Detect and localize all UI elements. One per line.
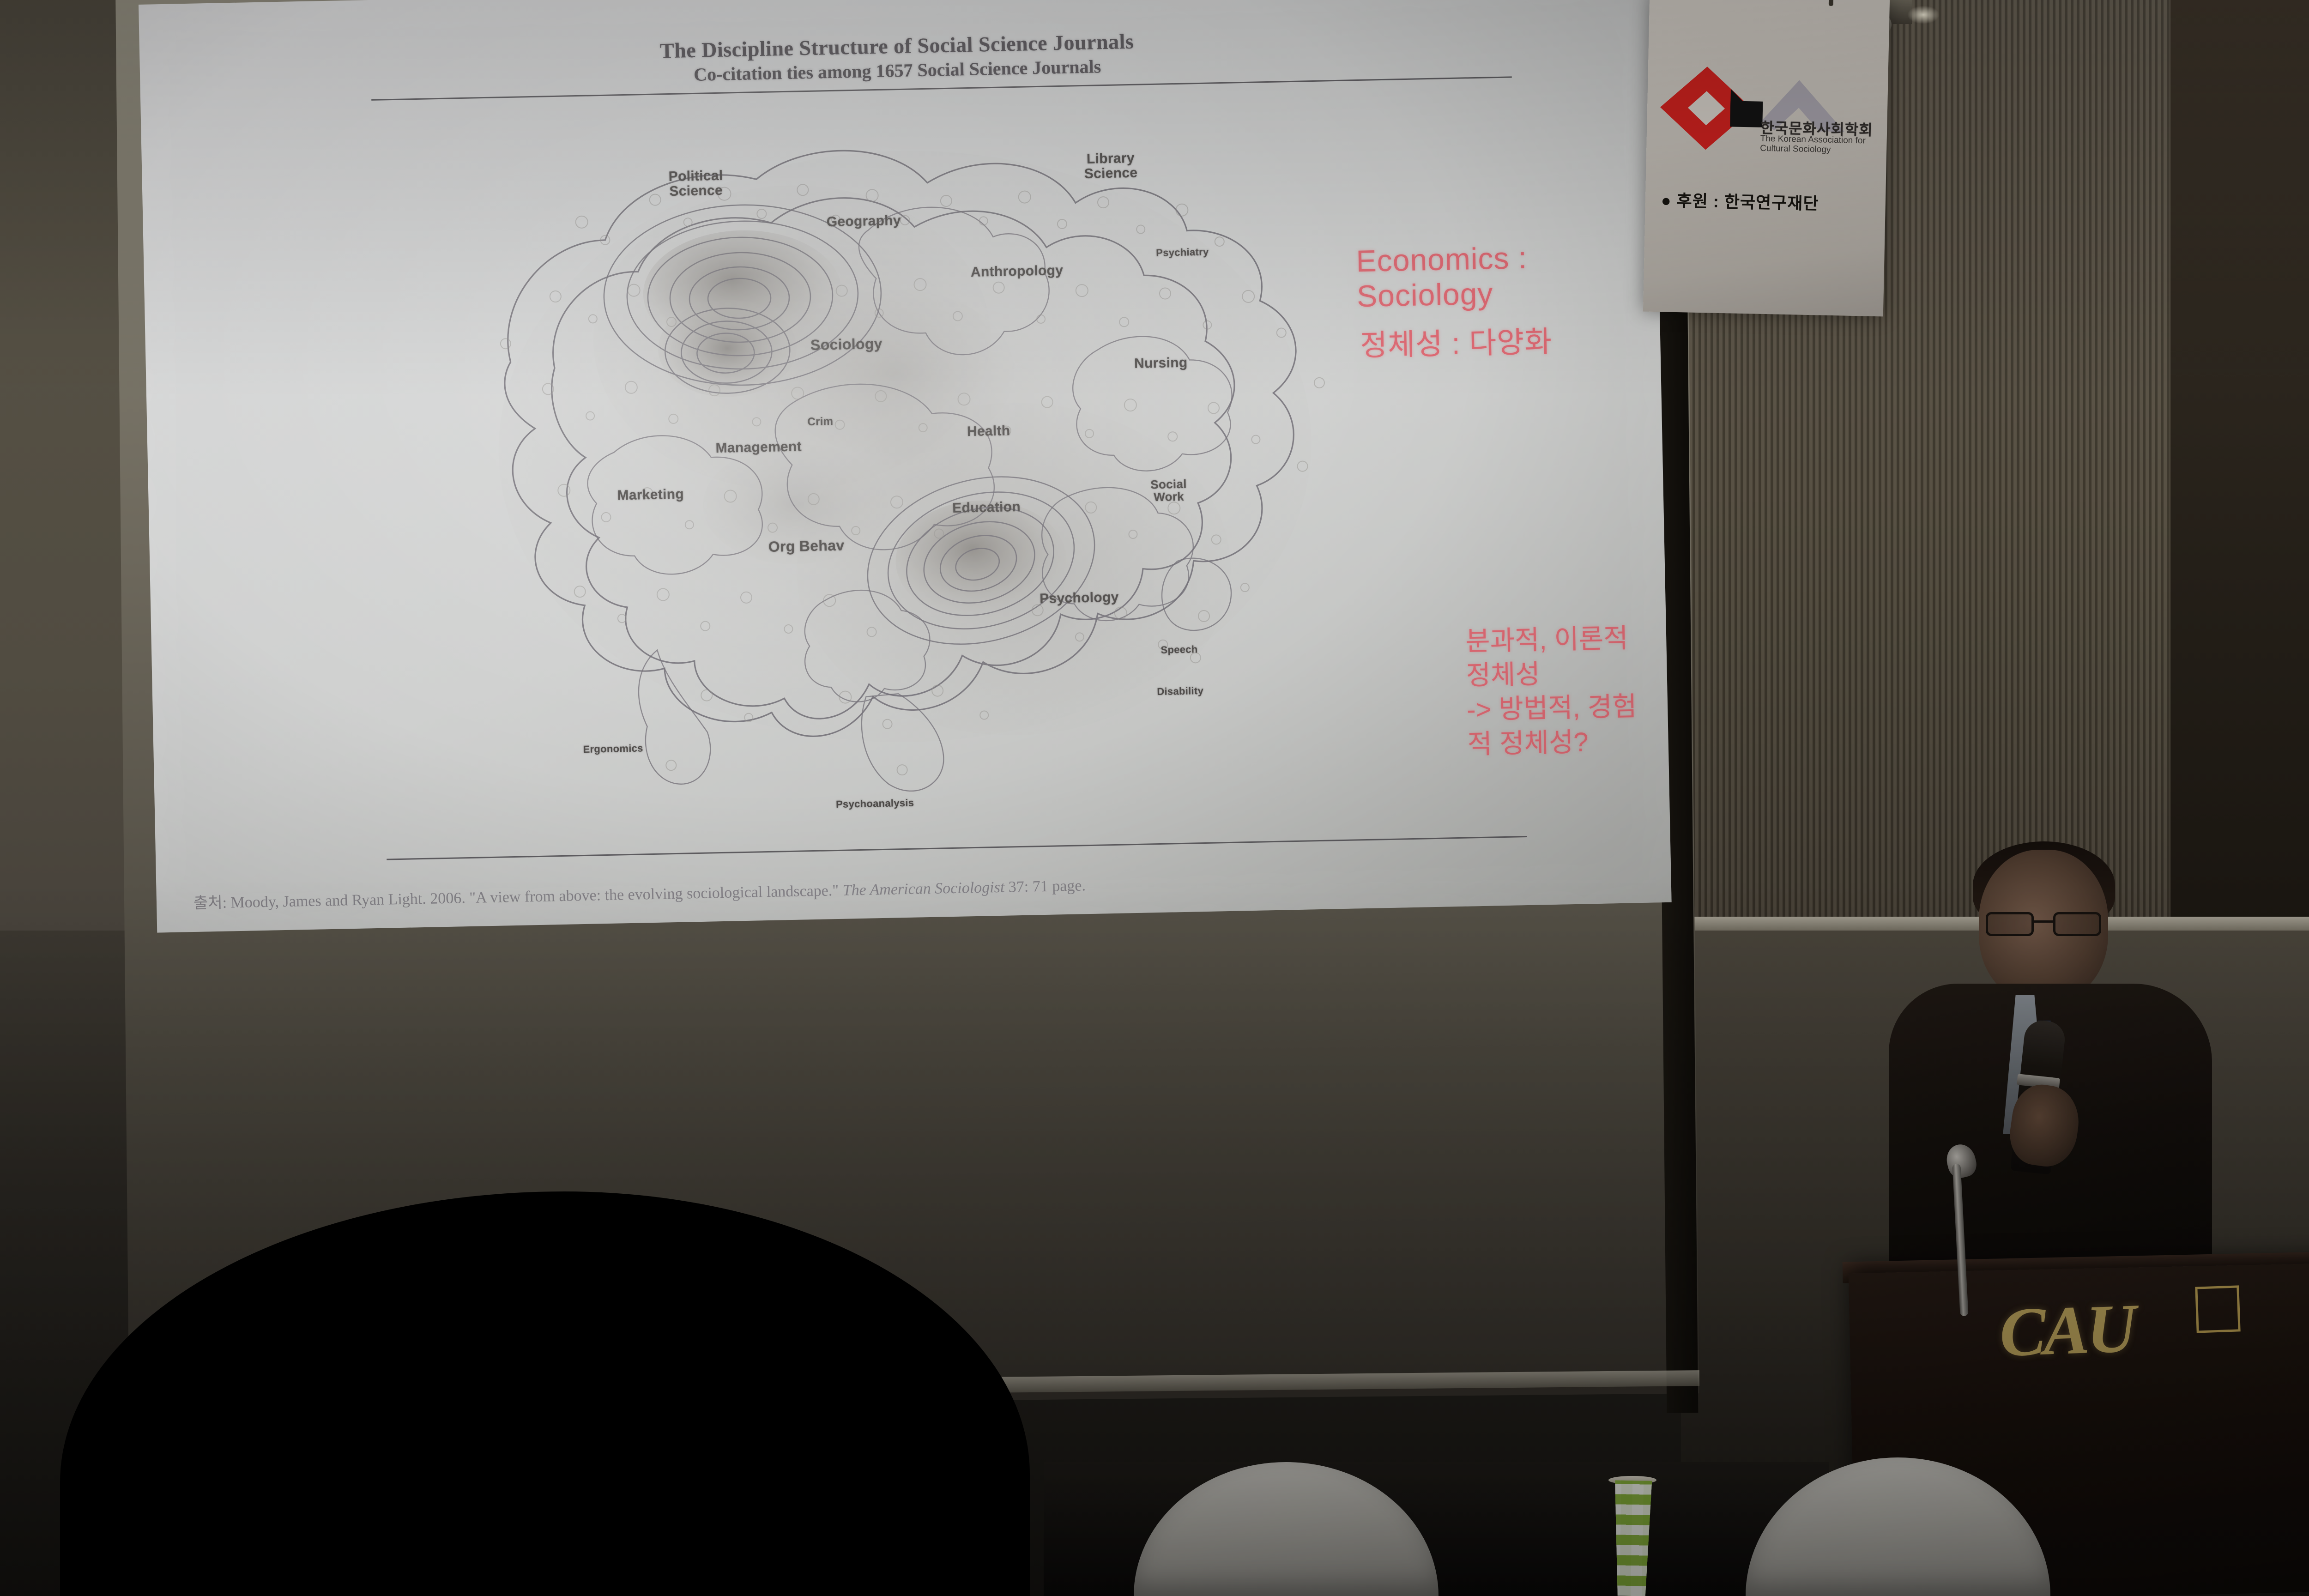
citation-journal: The American Sociologist (842, 879, 1004, 899)
ceiling-light-glow (1907, 6, 1940, 24)
glasses-right-lens (2053, 912, 2101, 936)
annotation-identity-line3: -> 방법적, 경험 (1467, 690, 1638, 728)
association-banner: 한국문화사회학회 The Korean Association for Cult… (1643, 0, 1890, 316)
association-name-english: The Korean Association for Cultural Soci… (1760, 134, 1876, 156)
map-label-marketing: Marketing (617, 487, 684, 503)
glasses-icon (1986, 912, 2101, 936)
citation-suffix: 37: 71 page. (1004, 877, 1086, 896)
contour-map-svg (436, 85, 1457, 857)
map-label-psychology: Psychology (1040, 590, 1119, 606)
map-label-social-work: Social Work (1150, 478, 1187, 504)
wall-trim-band (1644, 917, 2309, 931)
annotation-identity-diversification: 정체성 : 다양화 (1360, 318, 1552, 364)
map-label-anthropology: Anthropology (971, 263, 1064, 280)
map-label-library-science: Library Science (1084, 151, 1138, 181)
citation-prefix: 출처: Moody, James and Ryan Light. 2006. "… (193, 882, 843, 912)
map-label-crim: Crim (807, 416, 833, 428)
map-label-political-science: Political Science (668, 169, 723, 199)
map-label-ergonomics: Ergonomics (583, 743, 643, 755)
slide-citation: 출처: Moody, James and Ryan Light. 2006. "… (193, 862, 1625, 913)
banner-hook-icon (1829, 0, 1834, 6)
co-citation-network-map: Political Science Geography Library Scie… (436, 85, 1457, 857)
annotation-economics-sociology: Economics : Sociology (1356, 237, 1660, 314)
projected-slide: The Discipline Structure of Social Scien… (139, 0, 1672, 933)
annotation-identity-line4: 적 정체성? (1467, 724, 1638, 762)
map-label-management: Management (715, 439, 802, 455)
map-label-sociology: Sociology (810, 336, 882, 353)
podium-logo: CAU (1998, 1288, 2135, 1372)
glasses-left-lens (1986, 912, 2034, 936)
glasses-bridge (2034, 920, 2053, 923)
map-label-education: Education (952, 500, 1021, 515)
annotation-identity-line2: 정체성 (1466, 655, 1637, 693)
map-label-nursing: Nursing (1134, 356, 1188, 371)
annotation-identity-block: 분과적, 이론적 정체성 -> 방법적, 경험 적 정체성? (1465, 621, 1638, 762)
map-label-org-behav: Org Behav (768, 538, 845, 555)
map-label-geography: Geography (826, 213, 901, 230)
map-label-disability: Disability (1157, 685, 1203, 697)
wall-wood-dark (2170, 0, 2309, 942)
map-label-psychoanalysis: Psychoanalysis (836, 798, 914, 810)
annotation-identity-line1: 분과적, 이론적 (1465, 621, 1636, 659)
map-label-health: Health (967, 423, 1010, 439)
banner-sponsor-text: ● 후원 : 한국연구재단 (1661, 187, 1819, 214)
podium-logo-box-icon (2195, 1285, 2240, 1333)
conference-room-photo: The Discipline Structure of Social Scien… (0, 0, 2309, 1596)
map-label-speech: Speech (1161, 644, 1198, 655)
map-label-psychiatry: Psychiatry (1156, 247, 1209, 258)
